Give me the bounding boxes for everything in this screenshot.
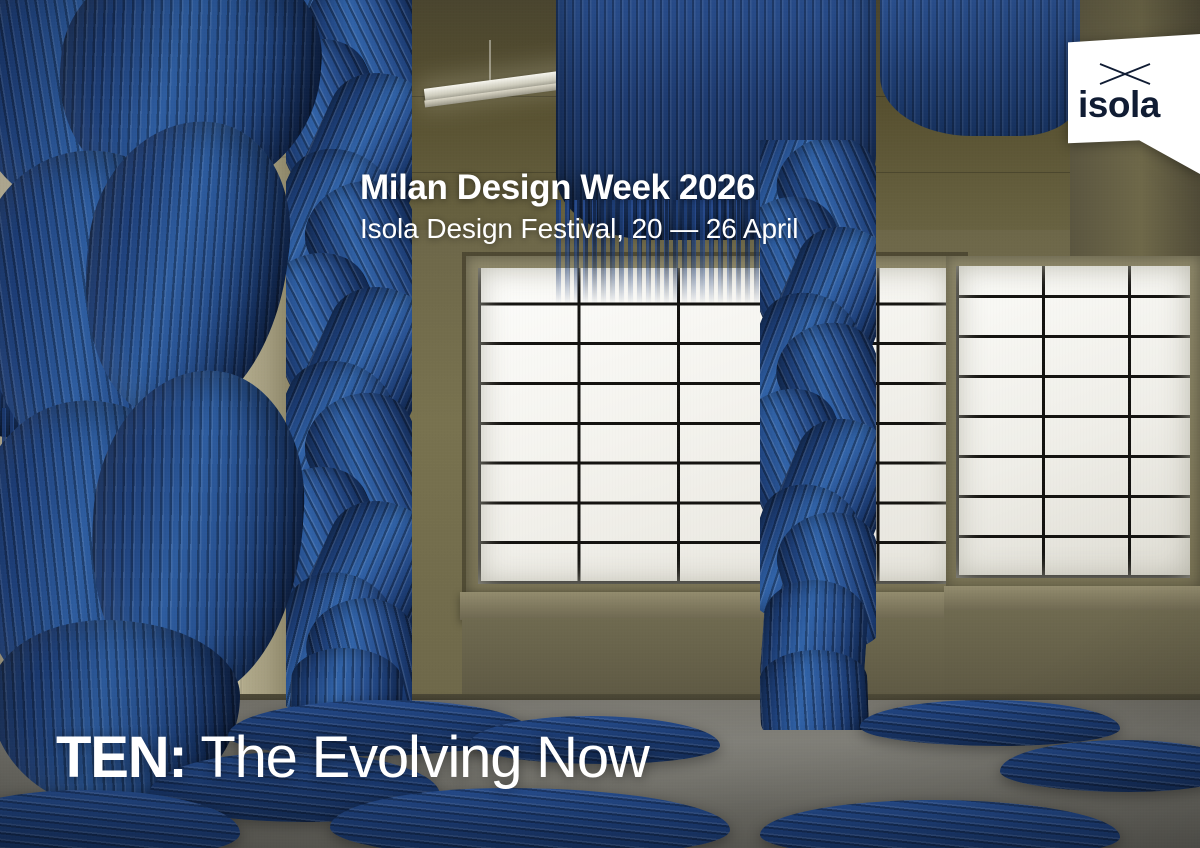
exhibition-title: TEN: The Evolving Now — [56, 729, 649, 787]
wall-dado-panel-secondary — [944, 610, 1200, 706]
poster-canvas: Milan Design Week 2026 Isola Design Fest… — [0, 0, 1200, 848]
exhibition-title-bold: TEN: — [56, 725, 187, 790]
event-subheadline: Isola Design Festival, 20 — 26 April — [360, 211, 798, 246]
event-headline: Milan Design Week 2026 — [360, 168, 798, 207]
blue-fabric-ceiling-drape-right — [880, 0, 1080, 136]
gallery-scene-photo — [0, 0, 1200, 848]
event-headline-block: Milan Design Week 2026 Isola Design Fest… — [360, 168, 798, 246]
window-sill-secondary — [944, 586, 1200, 612]
window-frame-secondary — [946, 256, 1200, 588]
window-pane-grid — [478, 268, 952, 584]
exhibition-title-regular: The Evolving Now — [187, 725, 649, 790]
window-sill — [460, 592, 972, 620]
isola-wordmark: isola — [1078, 86, 1160, 123]
window-pane-grid-secondary — [956, 266, 1190, 578]
isola-logo[interactable]: isola — [1068, 34, 1200, 174]
